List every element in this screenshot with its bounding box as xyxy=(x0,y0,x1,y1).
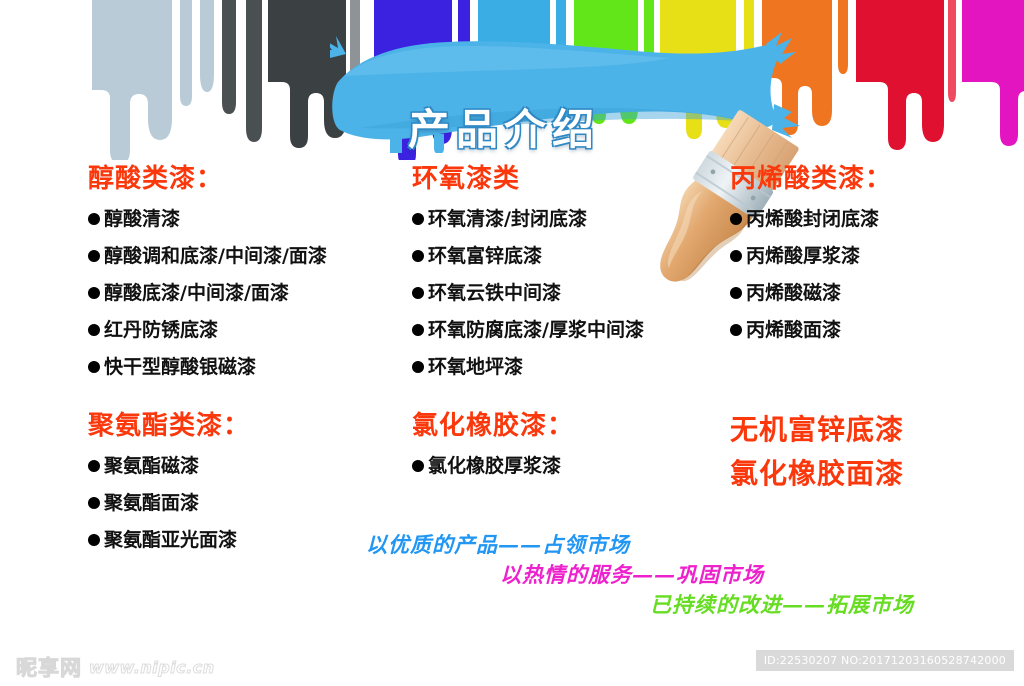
drip-band-magenta xyxy=(962,0,1024,146)
slogan-line-1: 以优质的产品——占领市场 xyxy=(366,529,630,559)
bullet-icon xyxy=(88,213,100,225)
list-item-label: 氯化橡胶厚浆漆 xyxy=(428,448,561,485)
watermark-logo: 昵享网 www.nipic.cn xyxy=(16,652,215,682)
list-item: 醇酸底漆/中间漆/面漆 xyxy=(88,275,408,312)
list-item: 红丹防锈底漆 xyxy=(88,312,408,349)
bullet-icon xyxy=(88,534,100,546)
bullet-icon xyxy=(412,287,424,299)
list-item: 丙烯酸封闭底漆 xyxy=(730,201,1020,238)
section-alkyd: 醇酸类漆： 醇酸清漆 醇酸调和底漆/中间漆/面漆 醇酸底漆/中间漆/面漆 红丹防… xyxy=(88,165,408,386)
bullet-icon xyxy=(412,460,424,472)
list-item-label: 醇酸底漆/中间漆/面漆 xyxy=(104,275,289,312)
list-item: 环氧清漆/封闭底漆 xyxy=(412,201,732,238)
list-item: 快干型醇酸银磁漆 xyxy=(88,349,408,386)
list-item-label: 醇酸调和底漆/中间漆/面漆 xyxy=(104,238,327,275)
list-item: 环氧富锌底漆 xyxy=(412,238,732,275)
section-heading: 聚氨酯类漆： xyxy=(88,412,408,442)
list-item: 氯化橡胶厚浆漆 xyxy=(412,448,732,485)
bullet-icon xyxy=(88,497,100,509)
list-item-label: 环氧清漆/封闭底漆 xyxy=(428,201,587,238)
slogan-line-3: 已持续的改进——拓展市场 xyxy=(650,589,914,619)
list-item-label: 聚氨酯亚光面漆 xyxy=(104,522,237,559)
list-item: 环氧地坪漆 xyxy=(412,349,732,386)
poster-canvas: 产品介绍 xyxy=(0,0,1024,686)
bullet-icon xyxy=(412,324,424,336)
list-item-label: 快干型醇酸银磁漆 xyxy=(104,349,256,386)
bullet-icon xyxy=(730,250,742,262)
section-chlorinated-rubber: 氯化橡胶漆： 氯化橡胶厚浆漆 xyxy=(412,412,732,485)
list-item: 丙烯酸厚浆漆 xyxy=(730,238,1020,275)
list-item-label: 环氧云铁中间漆 xyxy=(428,275,561,312)
list-item: 丙烯酸磁漆 xyxy=(730,275,1020,312)
list-item: 聚氨酯面漆 xyxy=(88,485,408,522)
highlight-line: 无机富锌底漆 xyxy=(730,408,1020,452)
bullet-icon xyxy=(88,460,100,472)
list-item-label: 聚氨酯面漆 xyxy=(104,485,199,522)
watermark-site-url: www.nipic.cn xyxy=(89,658,215,677)
drip-band-gray-blue xyxy=(92,0,214,160)
list-item: 聚氨酯亚光面漆 xyxy=(88,522,408,559)
list-item: 环氧云铁中间漆 xyxy=(412,275,732,312)
bullet-icon xyxy=(412,361,424,373)
list-item-label: 醇酸清漆 xyxy=(104,201,180,238)
list-item: 醇酸调和底漆/中间漆/面漆 xyxy=(88,238,408,275)
list-item: 环氧防腐底漆/厚浆中间漆 xyxy=(412,312,732,349)
section-highlights: 无机富锌底漆 氯化橡胶面漆 xyxy=(730,408,1020,496)
bullet-icon xyxy=(730,287,742,299)
section-heading: 丙烯酸类漆： xyxy=(730,165,1020,195)
list-item-label: 环氧地坪漆 xyxy=(428,349,523,386)
bullet-icon xyxy=(88,361,100,373)
list-item-label: 聚氨酯磁漆 xyxy=(104,448,199,485)
list-item: 醇酸清漆 xyxy=(88,201,408,238)
list-item: 聚氨酯磁漆 xyxy=(88,448,408,485)
list-item-label: 红丹防锈底漆 xyxy=(104,312,218,349)
watermark-id-badge: ID:22530207 NO:20171203160528742000 xyxy=(756,650,1014,671)
bullet-icon xyxy=(412,213,424,225)
bullet-icon xyxy=(88,324,100,336)
section-acrylic: 丙烯酸类漆： 丙烯酸封闭底漆 丙烯酸厚浆漆 丙烯酸磁漆 丙烯酸面漆 xyxy=(730,165,1020,349)
list-item-label: 丙烯酸厚浆漆 xyxy=(746,238,860,275)
list-item-label: 环氧富锌底漆 xyxy=(428,238,542,275)
drip-band-red xyxy=(856,0,956,150)
bullet-icon xyxy=(88,250,100,262)
watermark-site-name: 昵享网 xyxy=(16,652,82,682)
bullet-icon xyxy=(412,250,424,262)
page-title: 产品介绍 xyxy=(408,96,600,157)
bullet-icon xyxy=(730,213,742,225)
bullet-icon xyxy=(88,287,100,299)
bullet-icon xyxy=(730,324,742,336)
highlight-line: 氯化橡胶面漆 xyxy=(730,452,1020,496)
list-item: 丙烯酸面漆 xyxy=(730,312,1020,349)
list-item-label: 环氧防腐底漆/厚浆中间漆 xyxy=(428,312,644,349)
section-heading: 氯化橡胶漆： xyxy=(412,412,732,442)
slogan-line-2: 以热情的服务——巩固市场 xyxy=(500,559,764,589)
list-item-label: 丙烯酸面漆 xyxy=(746,312,841,349)
list-item-label: 丙烯酸封闭底漆 xyxy=(746,201,879,238)
list-item-label: 丙烯酸磁漆 xyxy=(746,275,841,312)
section-heading: 环氧漆类 xyxy=(412,165,732,195)
section-heading: 醇酸类漆： xyxy=(88,165,408,195)
section-epoxy: 环氧漆类 环氧清漆/封闭底漆 环氧富锌底漆 环氧云铁中间漆 环氧防腐底漆/厚浆中… xyxy=(412,165,732,386)
section-polyurethane: 聚氨酯类漆： 聚氨酯磁漆 聚氨酯面漆 聚氨酯亚光面漆 xyxy=(88,412,408,559)
